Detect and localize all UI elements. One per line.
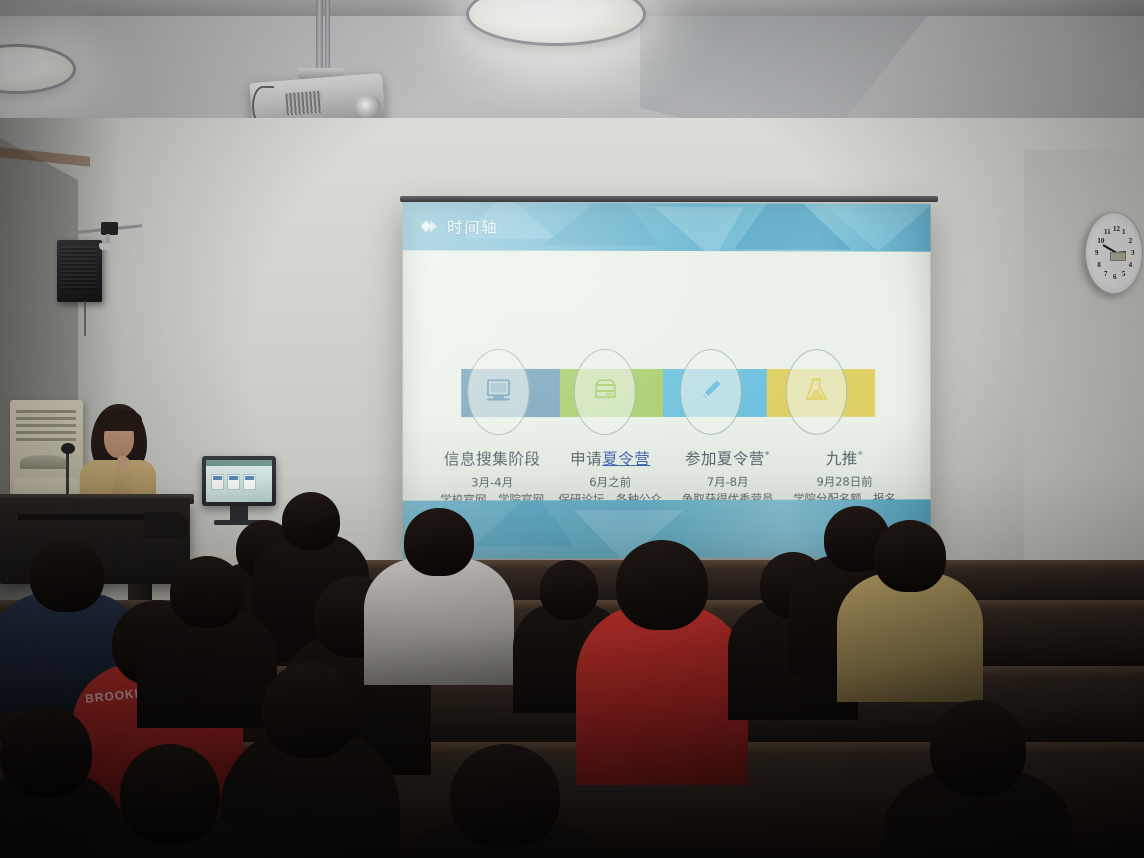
projector-vent [285,91,323,116]
wall-clock-date-window [1110,252,1126,261]
pencil-icon [696,375,726,410]
play-diamond-icon [419,216,439,236]
step-date: 3月-4月 [437,474,547,490]
audience-member-head [0,706,92,798]
slide-header: 时间轴 [403,202,931,252]
podium-microphone [61,443,75,454]
presenter-hand [116,456,130,471]
clock-numeral: 8 [1097,261,1101,269]
audience-member-head [450,744,560,848]
speaker-grille [61,246,97,290]
step-title: 九推* [790,447,899,469]
clock-numeral: 2 [1129,237,1133,245]
clock-numeral: 3 [1131,249,1135,257]
slide-title: 时间轴 [447,216,498,237]
projector-mount-pole [316,0,323,74]
slide-body: 信息搜集阶段3月-4月学校官网、学院官网申请夏令营6月之前保研论坛，各种公众号参… [403,250,931,500]
audience-member-head [282,492,340,550]
screen-rail [400,196,938,202]
audience-member-body [576,605,748,785]
step-title: 申请夏令营 [555,447,665,469]
presenter-monitor-screen[interactable] [206,460,272,502]
clock-numeral: 5 [1122,270,1126,278]
audience-member-head [120,744,220,844]
clock-numeral: 11 [1104,228,1111,236]
air-conditioner-vent [20,455,68,469]
step-title-asterisk: * [858,450,863,461]
lecture-hall-scene: 121234567891011 时间轴 信息搜集阶段3月-4月学校官 [0,0,1144,858]
step-title-asterisk: * [765,450,770,461]
audience-member-head [170,556,244,628]
timeline-node-1[interactable] [467,349,529,435]
audience-member-head [540,560,598,620]
timeline-node-3[interactable] [680,349,742,435]
speaker-wire [84,300,86,336]
step-title: 参加夏令营* [673,447,782,469]
step-title: 信息搜集阶段 [437,447,547,469]
audience-member-head [30,540,104,612]
audience-member-head [874,520,946,592]
step-title-link[interactable]: 夏令营 [602,450,650,468]
timeline-node-2[interactable] [574,349,636,435]
projector-mount-pole [325,0,330,70]
security-camera-base [99,243,118,250]
audience-member-head [404,508,474,576]
audience-member-head [616,540,708,630]
audience-member-head [930,700,1026,796]
air-conditioner-grille [16,410,76,442]
audience-member-body [364,557,514,685]
flask-icon [802,374,832,411]
podium-control-panel[interactable] [144,512,188,538]
timeline-icon-nodes [461,349,875,441]
clock-numeral: 4 [1129,261,1133,269]
step-date: 7月-8月 [673,474,782,490]
clock-numeral: 9 [1095,249,1099,257]
step-date: 9月28日前 [790,474,899,490]
clock-numeral: 1 [1122,228,1126,236]
computer-monitor-icon [483,374,513,409]
clock-numeral: 12 [1113,225,1120,233]
clock-numeral: 6 [1113,273,1117,281]
step-date: 6月之前 [555,474,665,490]
podium-panel-slot [18,514,144,520]
presenter-fringe [98,409,142,431]
document-tray-icon [589,374,620,410]
audience-member-head [262,662,358,758]
timeline-node-4[interactable] [786,349,848,435]
microphone-stand [66,452,69,494]
clock-numeral: 7 [1104,270,1108,278]
